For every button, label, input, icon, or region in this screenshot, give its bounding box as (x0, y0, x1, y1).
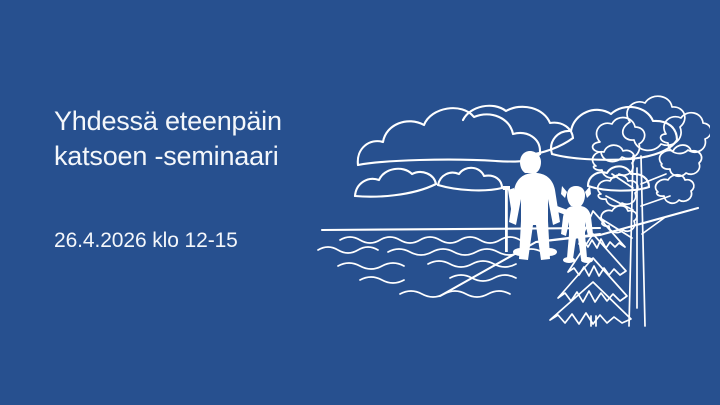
landscape-illustration (300, 58, 710, 328)
people-group (503, 151, 593, 263)
wave-7 (450, 275, 516, 281)
deciduous-tree (592, 96, 710, 326)
wave-5 (428, 261, 516, 267)
adult-foot-left (513, 248, 529, 256)
wave-8 (400, 291, 510, 297)
cloud-ridge-right (552, 140, 677, 160)
cloud-ridge-left (358, 154, 540, 165)
spruce-middle-tier (568, 234, 626, 276)
horizon-line (322, 228, 600, 230)
wave-6 (360, 277, 404, 283)
cloud-ridge-lower-mid (438, 185, 502, 190)
cloud-ridge-lower-left (355, 184, 436, 197)
branch-mid-left (606, 196, 633, 210)
walking-cane (503, 186, 510, 252)
canopy-lobe-top-center (623, 96, 685, 150)
spruce-lower-tier (558, 258, 627, 302)
child-pigtail-right (585, 186, 591, 198)
event-datetime: 26.4.2026 klo 12-15 (54, 228, 238, 254)
adult-foot-right (541, 248, 557, 256)
cloud-small-lower-mid (438, 168, 502, 188)
cloud-small-lower-left (355, 169, 436, 196)
canopy-lobe-top-left (593, 118, 645, 162)
child-foot-left (563, 257, 575, 263)
wave-2 (318, 247, 378, 253)
deciduous-trunk-right (641, 156, 645, 326)
cloud-large-left (358, 108, 540, 165)
wave-4 (338, 263, 404, 269)
child-head (567, 186, 585, 206)
child-torso (561, 206, 593, 259)
adult-torso (509, 173, 560, 260)
child-foot-right (581, 257, 593, 263)
child-pigtail-left (561, 186, 567, 198)
child-figure (561, 186, 593, 263)
wave-1 (340, 237, 520, 243)
poster-canvas: Yhdessä eteenpäin katsoen -seminaari 26.… (0, 0, 720, 405)
